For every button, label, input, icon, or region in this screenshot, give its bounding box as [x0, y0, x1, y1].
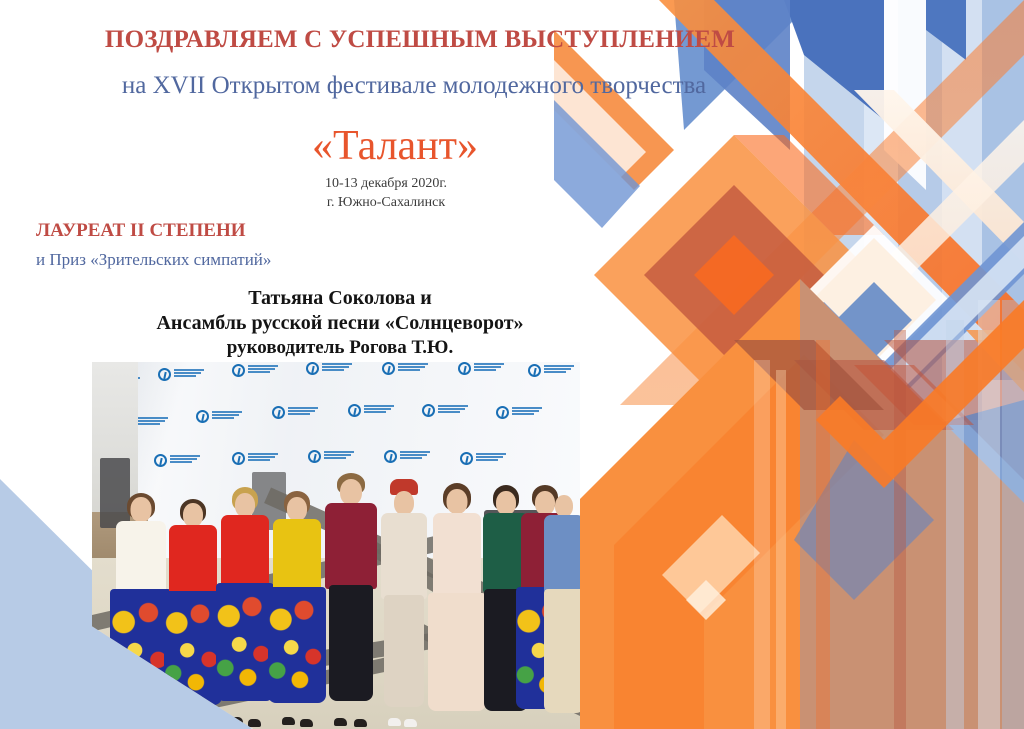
event-city: г. Южно-Сахалинск: [0, 195, 772, 211]
performers-block: Татьяна Соколова и Ансамбль русской песн…: [0, 286, 680, 360]
ensemble-name: Ансамбль русской песни «Солнцеворот»: [0, 311, 680, 336]
congratulation-heading: ПОЗДРАВЛЯЕМ С УСПЕШНЫМ ВЫСТУПЛЕНИЕМ: [0, 26, 840, 54]
award-extra-prize: и Приз «Зрительских симпатий»: [36, 250, 271, 270]
festival-subtitle: на XVII Открытом фестивале молодежного т…: [0, 72, 828, 100]
event-dates: 10-13 декабря 2020г.: [0, 176, 772, 192]
ensemble-director: руководитель Рогова Т.Ю.: [0, 336, 680, 360]
performer-name: Татьяна Соколова и: [0, 286, 680, 311]
festival-name-title: «Талант»: [0, 122, 790, 170]
text-layer: ПОЗДРАВЛЯЕМ С УСПЕШНЫМ ВЫСТУПЛЕНИЕМ на X…: [0, 0, 1024, 729]
award-title: ЛАУРЕАТ II СТЕПЕНИ: [36, 220, 246, 242]
certificate-slide: ПОЗДРАВЛЯЕМ С УСПЕШНЫМ ВЫСТУПЛЕНИЕМ на X…: [0, 0, 1024, 729]
